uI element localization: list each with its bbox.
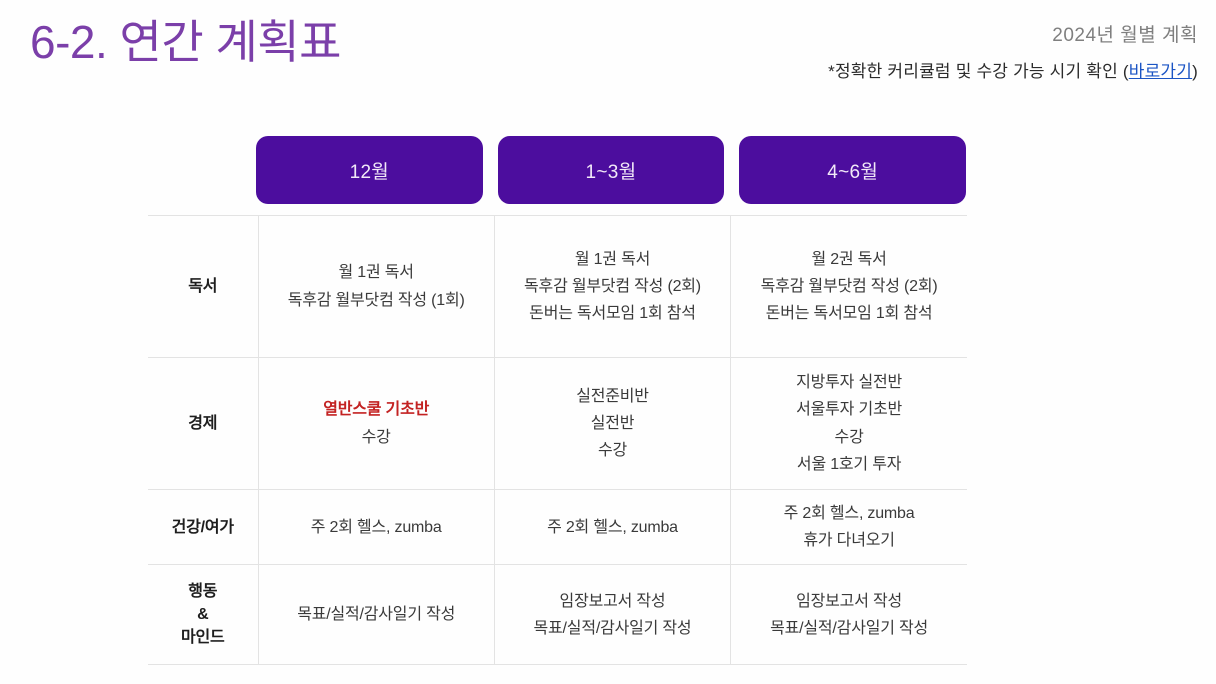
row-label-economy: 경제 bbox=[148, 358, 258, 490]
cell-health-12: 주 2회 헬스, zumba bbox=[258, 490, 494, 565]
cell-line: 수강 bbox=[501, 437, 724, 464]
page-header: 6-2. 연간 계획표 2024년 월별 계획 *정확한 커리큘럼 및 수강 가… bbox=[0, 0, 1216, 120]
label-line: 건강/여가 bbox=[154, 516, 252, 539]
curriculum-note-suffix: ) bbox=[1192, 62, 1198, 81]
table-row: 건강/여가 주 2회 헬스, zumba 주 2회 헬스, zumba 주 2회… bbox=[148, 490, 967, 565]
cell-line: 돈버는 독서모임 1회 참석 bbox=[737, 300, 961, 327]
cell-line: 실전준비반 bbox=[501, 383, 724, 410]
cell-economy-1-3: 실전준비반실전반수강 bbox=[494, 358, 730, 490]
label-line: 경제 bbox=[154, 412, 252, 435]
cell-line: 실전반 bbox=[501, 410, 724, 437]
label-line: 독서 bbox=[154, 275, 252, 298]
tab-period-1-3-label: 1~3월 bbox=[586, 157, 637, 184]
cell-line: 휴가 다녀오기 bbox=[737, 527, 961, 554]
label-line: 행동 bbox=[154, 580, 252, 603]
annual-plan-table: 독서 월 1권 독서독후감 월부닷컴 작성 (1회) 월 1권 독서독후감 월부… bbox=[148, 215, 967, 665]
cell-line: 주 2회 헬스, zumba bbox=[501, 514, 724, 541]
tab-period-12-label: 12월 bbox=[350, 157, 390, 184]
cell-health-4-6: 주 2회 헬스, zumba휴가 다녀오기 bbox=[731, 490, 967, 565]
row-label-reading: 독서 bbox=[148, 216, 258, 358]
cell-line: 월 1권 독서 bbox=[265, 259, 488, 286]
tab-period-4-6-label: 4~6월 bbox=[827, 157, 878, 184]
cell-line: 월 2권 독서 bbox=[737, 246, 961, 273]
cell-reading-4-6: 월 2권 독서독후감 월부닷컴 작성 (2회)돈버는 독서모임 1회 참석 bbox=[731, 216, 967, 358]
label-line: & bbox=[154, 603, 252, 626]
cell-mind-1-3: 임장보고서 작성목표/실적/감사일기 작성 bbox=[494, 565, 730, 665]
period-tab-row: 12월 1~3월 4~6월 bbox=[256, 136, 966, 204]
cell-line: 독후감 월부닷컴 작성 (2회) bbox=[501, 273, 724, 300]
cell-line: 목표/실적/감사일기 작성 bbox=[501, 615, 724, 642]
page-title: 6-2. 연간 계획표 bbox=[30, 14, 341, 72]
cell-line: 임장보고서 작성 bbox=[737, 588, 961, 615]
curriculum-note-prefix: *정확한 커리큘럼 및 수강 가능 시기 확인 ( bbox=[828, 62, 1129, 81]
cell-economy-4-6: 지방투자 실전반서울투자 기초반수강서울 1호기 투자 bbox=[731, 358, 967, 490]
cell-line: 독후감 월부닷컴 작성 (2회) bbox=[737, 273, 961, 300]
cell-line: 목표/실적/감사일기 작성 bbox=[737, 615, 961, 642]
tab-period-12[interactable]: 12월 bbox=[256, 136, 483, 204]
cell-line: 서울 1호기 투자 bbox=[737, 451, 961, 478]
cell-line: 수강 bbox=[737, 424, 961, 451]
tab-period-4-6[interactable]: 4~6월 bbox=[739, 136, 966, 204]
tab-period-1-3[interactable]: 1~3월 bbox=[498, 136, 725, 204]
row-label-mind: 행동&마인드 bbox=[148, 565, 258, 665]
curriculum-link[interactable]: 바로가기 bbox=[1129, 62, 1192, 81]
cell-mind-12: 목표/실적/감사일기 작성 bbox=[258, 565, 494, 665]
table-row: 독서 월 1권 독서독후감 월부닷컴 작성 (1회) 월 1권 독서독후감 월부… bbox=[148, 216, 967, 358]
cell-line: 임장보고서 작성 bbox=[501, 588, 724, 615]
cell-line: 목표/실적/감사일기 작성 bbox=[265, 601, 488, 628]
cell-line: 주 2회 헬스, zumba bbox=[265, 514, 488, 541]
cell-line: 독후감 월부닷컴 작성 (1회) bbox=[265, 287, 488, 314]
annual-plan-table-body: 독서 월 1권 독서독후감 월부닷컴 작성 (1회) 월 1권 독서독후감 월부… bbox=[148, 216, 967, 665]
curriculum-note: *정확한 커리큘럼 및 수강 가능 시기 확인 (바로가기) bbox=[828, 59, 1198, 85]
label-line: 마인드 bbox=[154, 626, 252, 649]
row-label-health: 건강/여가 bbox=[148, 490, 258, 565]
cell-mind-4-6: 임장보고서 작성목표/실적/감사일기 작성 bbox=[731, 565, 967, 665]
table-row: 행동&마인드 목표/실적/감사일기 작성 임장보고서 작성목표/실적/감사일기 … bbox=[148, 565, 967, 665]
year-label: 2024년 월별 계획 bbox=[828, 22, 1198, 51]
cell-economy-12: 열반스쿨 기초반수강 bbox=[258, 358, 494, 490]
cell-reading-12: 월 1권 독서독후감 월부닷컴 작성 (1회) bbox=[258, 216, 494, 358]
cell-line: 수강 bbox=[265, 424, 488, 451]
header-subtitle-block: 2024년 월별 계획 *정확한 커리큘럼 및 수강 가능 시기 확인 (바로가… bbox=[828, 22, 1198, 84]
cell-reading-1-3: 월 1권 독서독후감 월부닷컴 작성 (2회)돈버는 독서모임 1회 참석 bbox=[494, 216, 730, 358]
table-row: 경제 열반스쿨 기초반수강 실전준비반실전반수강 지방투자 실전반서울투자 기초… bbox=[148, 358, 967, 490]
cell-line: 지방투자 실전반 bbox=[737, 369, 961, 396]
cell-health-1-3: 주 2회 헬스, zumba bbox=[494, 490, 730, 565]
cell-line-highlighted: 열반스쿨 기초반 bbox=[265, 396, 488, 423]
cell-line: 돈버는 독서모임 1회 참석 bbox=[501, 300, 724, 327]
cell-line: 주 2회 헬스, zumba bbox=[737, 500, 961, 527]
cell-line: 서울투자 기초반 bbox=[737, 396, 961, 423]
cell-line: 월 1권 독서 bbox=[501, 246, 724, 273]
